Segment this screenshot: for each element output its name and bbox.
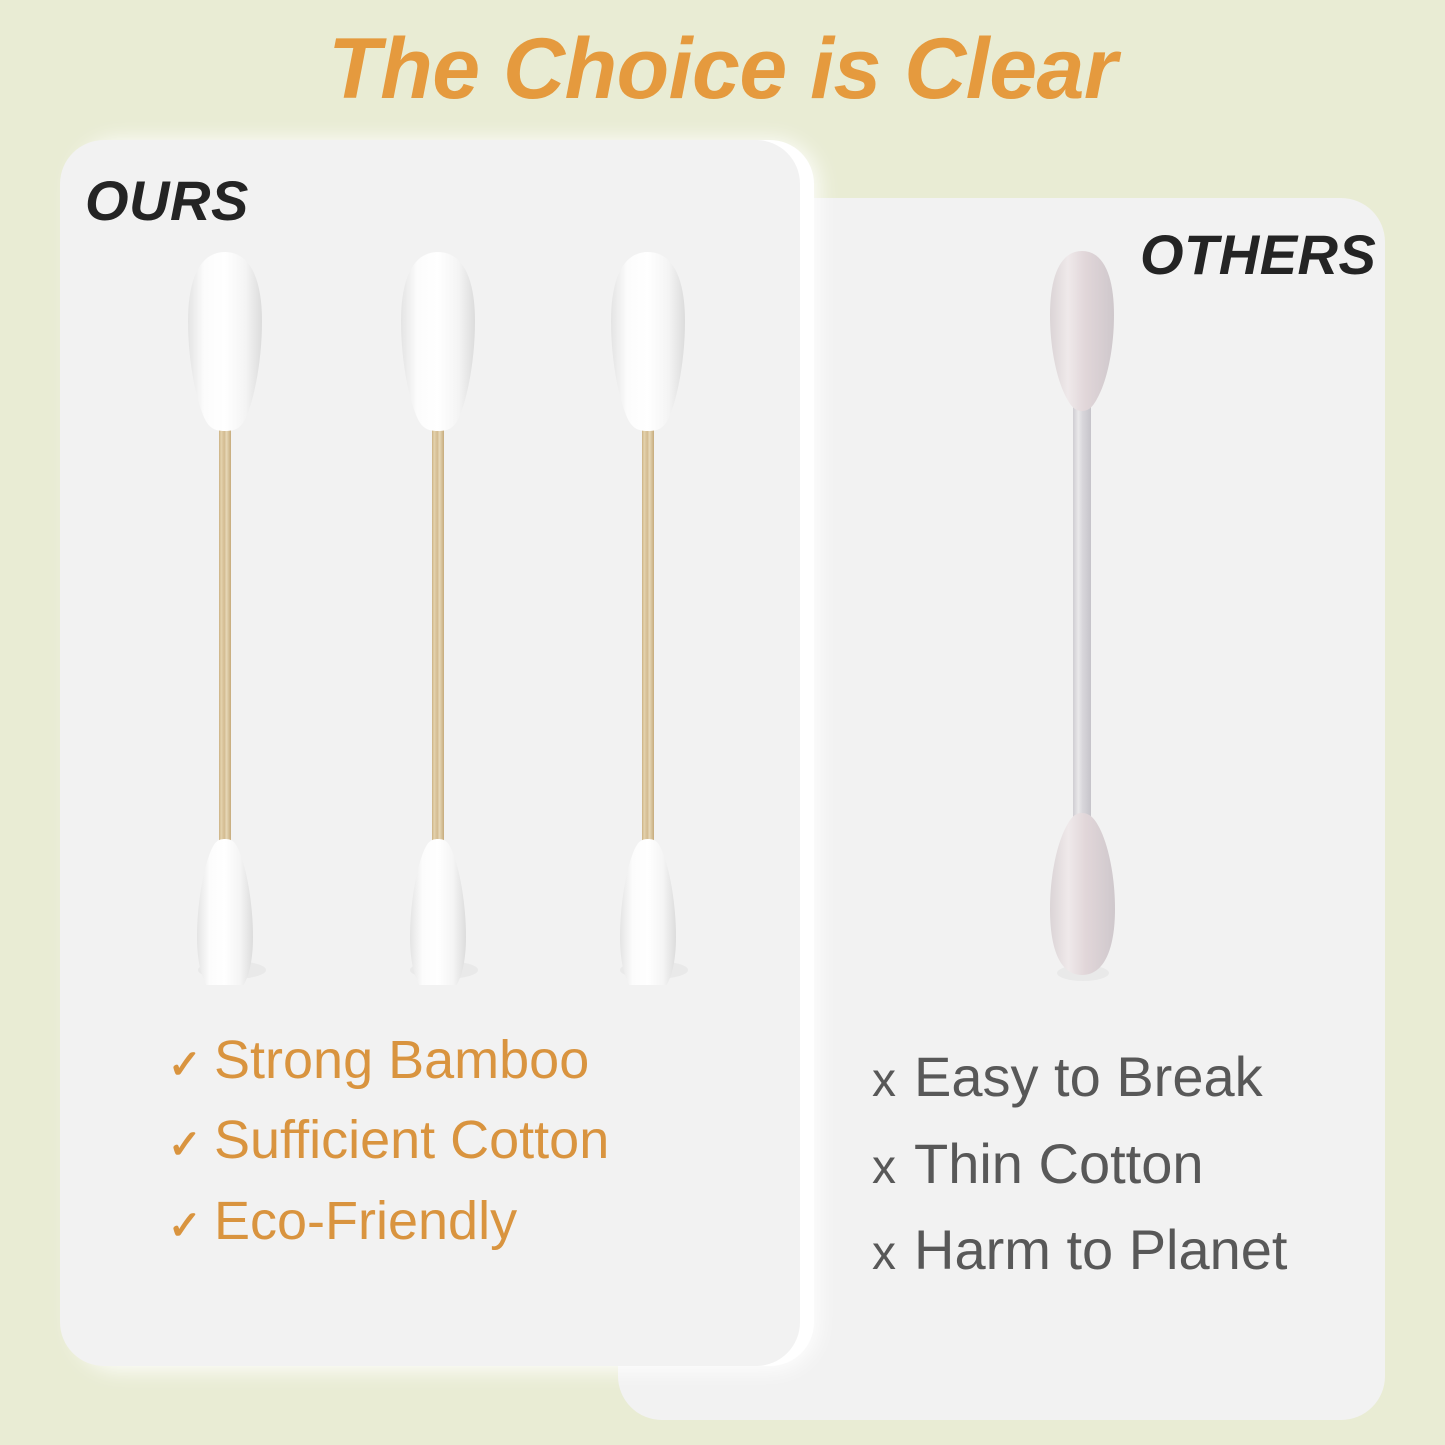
- feature-label: Eco-Friendly: [214, 1191, 517, 1251]
- feature-row: ✓ Strong Bamboo: [168, 1030, 768, 1090]
- plastic-swab: [1035, 245, 1165, 985]
- panel-label-ours: OURS: [85, 168, 249, 233]
- feature-row: x Thin Cotton: [872, 1133, 1392, 1196]
- feature-row: ✓ Eco-Friendly: [168, 1191, 768, 1251]
- bamboo-swab-group: [150, 245, 730, 985]
- comparison-infographic: The Choice is Clear OURS OTHERS: [0, 0, 1445, 1445]
- feature-row: x Harm to Planet: [872, 1219, 1392, 1282]
- x-mark-icon: x: [872, 1057, 914, 1105]
- x-mark-icon: x: [872, 1144, 914, 1192]
- feature-label: Sufficient Cotton: [214, 1110, 609, 1170]
- feature-label: Strong Bamboo: [214, 1030, 589, 1090]
- feature-list-ours: ✓ Strong Bamboo ✓ Sufficient Cotton ✓ Ec…: [168, 1030, 768, 1271]
- panel-label-others: OTHERS: [1140, 222, 1376, 287]
- x-mark-icon: x: [872, 1230, 914, 1278]
- feature-list-others: x Easy to Break x Thin Cotton x Harm to …: [872, 1046, 1392, 1306]
- feature-label: Harm to Planet: [914, 1219, 1288, 1282]
- feature-label: Easy to Break: [914, 1046, 1263, 1109]
- feature-row: ✓ Sufficient Cotton: [168, 1110, 768, 1170]
- check-icon: ✓: [168, 1125, 214, 1165]
- feature-label: Thin Cotton: [914, 1133, 1204, 1196]
- feature-row: x Easy to Break: [872, 1046, 1392, 1109]
- check-icon: ✓: [168, 1206, 214, 1246]
- page-title: The Choice is Clear: [0, 26, 1445, 112]
- check-icon: ✓: [168, 1045, 214, 1085]
